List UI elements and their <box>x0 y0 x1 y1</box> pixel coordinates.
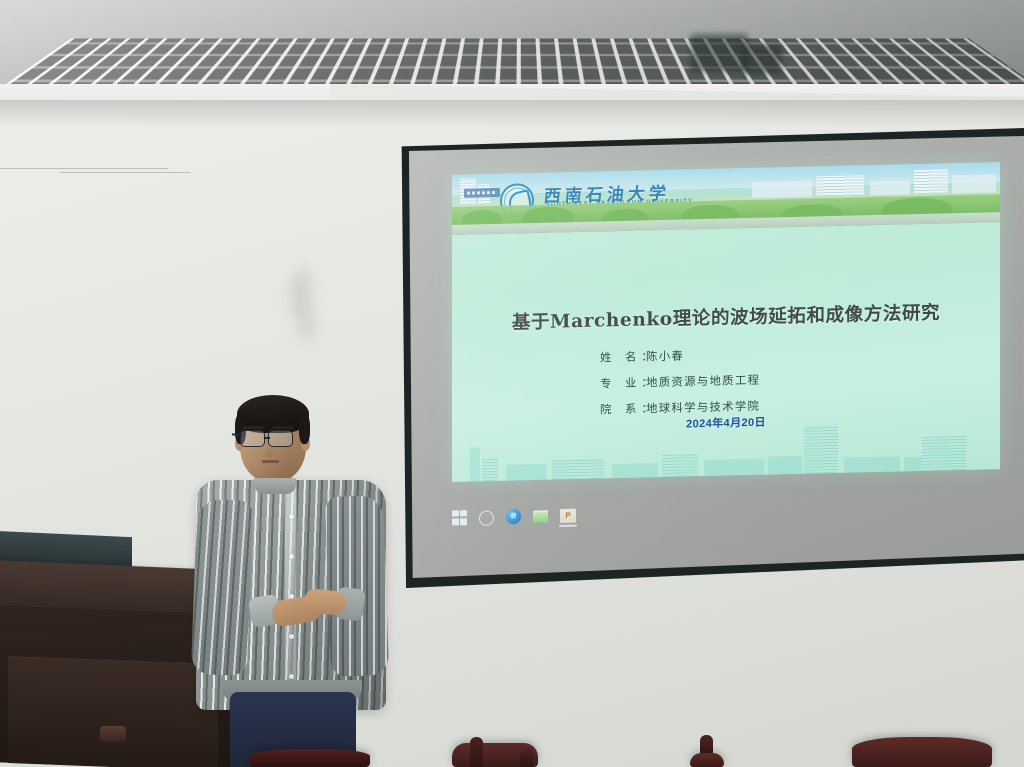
presenter-hair-side <box>299 414 310 444</box>
glasses-icon <box>268 430 293 447</box>
ceiling-shading <box>0 0 1024 92</box>
glasses-bridge <box>264 437 270 439</box>
screen-glare <box>404 136 1024 578</box>
presenter-left-arm <box>191 499 253 676</box>
wall-crack <box>0 168 168 169</box>
glasses-icon <box>240 430 265 447</box>
presenter <box>196 392 386 767</box>
presenter-eyebrow <box>243 426 264 429</box>
podium-front-panel <box>8 656 218 767</box>
podium-drawer-handle[interactable] <box>100 726 126 742</box>
chair-leg <box>470 737 483 767</box>
presenter-nose <box>265 446 273 457</box>
shirt-collar <box>254 478 296 494</box>
chair-leg <box>520 749 533 767</box>
wall-crack <box>60 172 190 173</box>
presenter-mouth <box>262 460 279 463</box>
presenter-eyebrow <box>272 426 293 429</box>
auditorium-chair <box>852 737 992 767</box>
auditorium-chair <box>690 753 724 767</box>
presenter-right-arm <box>325 495 389 677</box>
wall-smudge <box>300 312 314 342</box>
presentation-room-photo: 西南石油大学 SOUTHWEST PETROLEUM UNIVERSITY <box>0 0 1024 767</box>
grid-ceiling <box>0 0 1024 92</box>
auditorium-chair <box>250 749 370 767</box>
wall-top-shadow <box>0 100 1024 128</box>
